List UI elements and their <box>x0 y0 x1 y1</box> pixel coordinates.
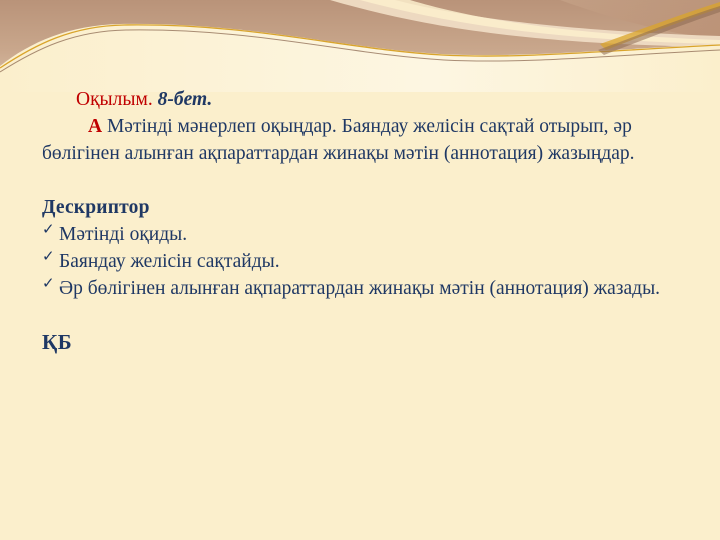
descriptor-heading: Дескриптор <box>42 194 682 221</box>
descriptor-item-text: Әр бөлігінен алынған ақпараттардан жинақ… <box>59 278 660 299</box>
paragraph-spacer <box>42 167 682 194</box>
footer-spacer <box>42 302 682 329</box>
task-a-text: Мәтінді мәнерлеп оқыңдар. Баяндау желісі… <box>42 116 635 164</box>
banner-gold-line <box>0 25 720 68</box>
check-icon: ✓ <box>42 271 59 298</box>
slide-canvas: Оқылым. 8-бет. А Мәтінді мәнерлеп оқыңда… <box>0 0 720 540</box>
banner-tan-field <box>0 0 720 92</box>
list-item: ✓Әр бөлігінен алынған ақпараттардан жина… <box>42 275 682 302</box>
slide-body: Оқылым. 8-бет. А Мәтінді мәнерлеп оқыңда… <box>42 86 682 356</box>
reading-title-line: Оқылым. 8-бет. <box>42 86 682 113</box>
banner-pale-ribbon-highlight <box>360 0 720 44</box>
list-item: ✓Баяндау желісін сақтайды. <box>42 248 682 275</box>
task-marker-a: А <box>88 116 102 137</box>
decorative-wave-banner <box>0 0 720 92</box>
descriptor-item-text: Баяндау желісін сақтайды. <box>59 251 280 272</box>
banner-cream-swoosh <box>0 24 720 92</box>
page-reference: 8-бет. <box>158 89 213 110</box>
banner-gold-streak <box>600 2 720 50</box>
task-a-paragraph: А Мәтінді мәнерлеп оқыңдар. Баяндау желі… <box>42 113 682 167</box>
banner-pale-ribbon <box>330 0 720 47</box>
banner-brown-line <box>0 30 720 72</box>
check-icon: ✓ <box>42 217 59 244</box>
banner-tan-sweep-right <box>560 0 720 40</box>
footer-label: ҚБ <box>42 329 682 356</box>
check-icon: ✓ <box>42 244 59 271</box>
descriptor-list: ✓Мәтінді оқиды. ✓Баяндау желісін сақтайд… <box>42 221 682 302</box>
descriptor-item-text: Мәтінді оқиды. <box>59 224 187 245</box>
banner-brown-streak <box>598 6 720 55</box>
list-item: ✓Мәтінді оқиды. <box>42 221 682 248</box>
reading-title: Оқылым. <box>76 89 153 110</box>
